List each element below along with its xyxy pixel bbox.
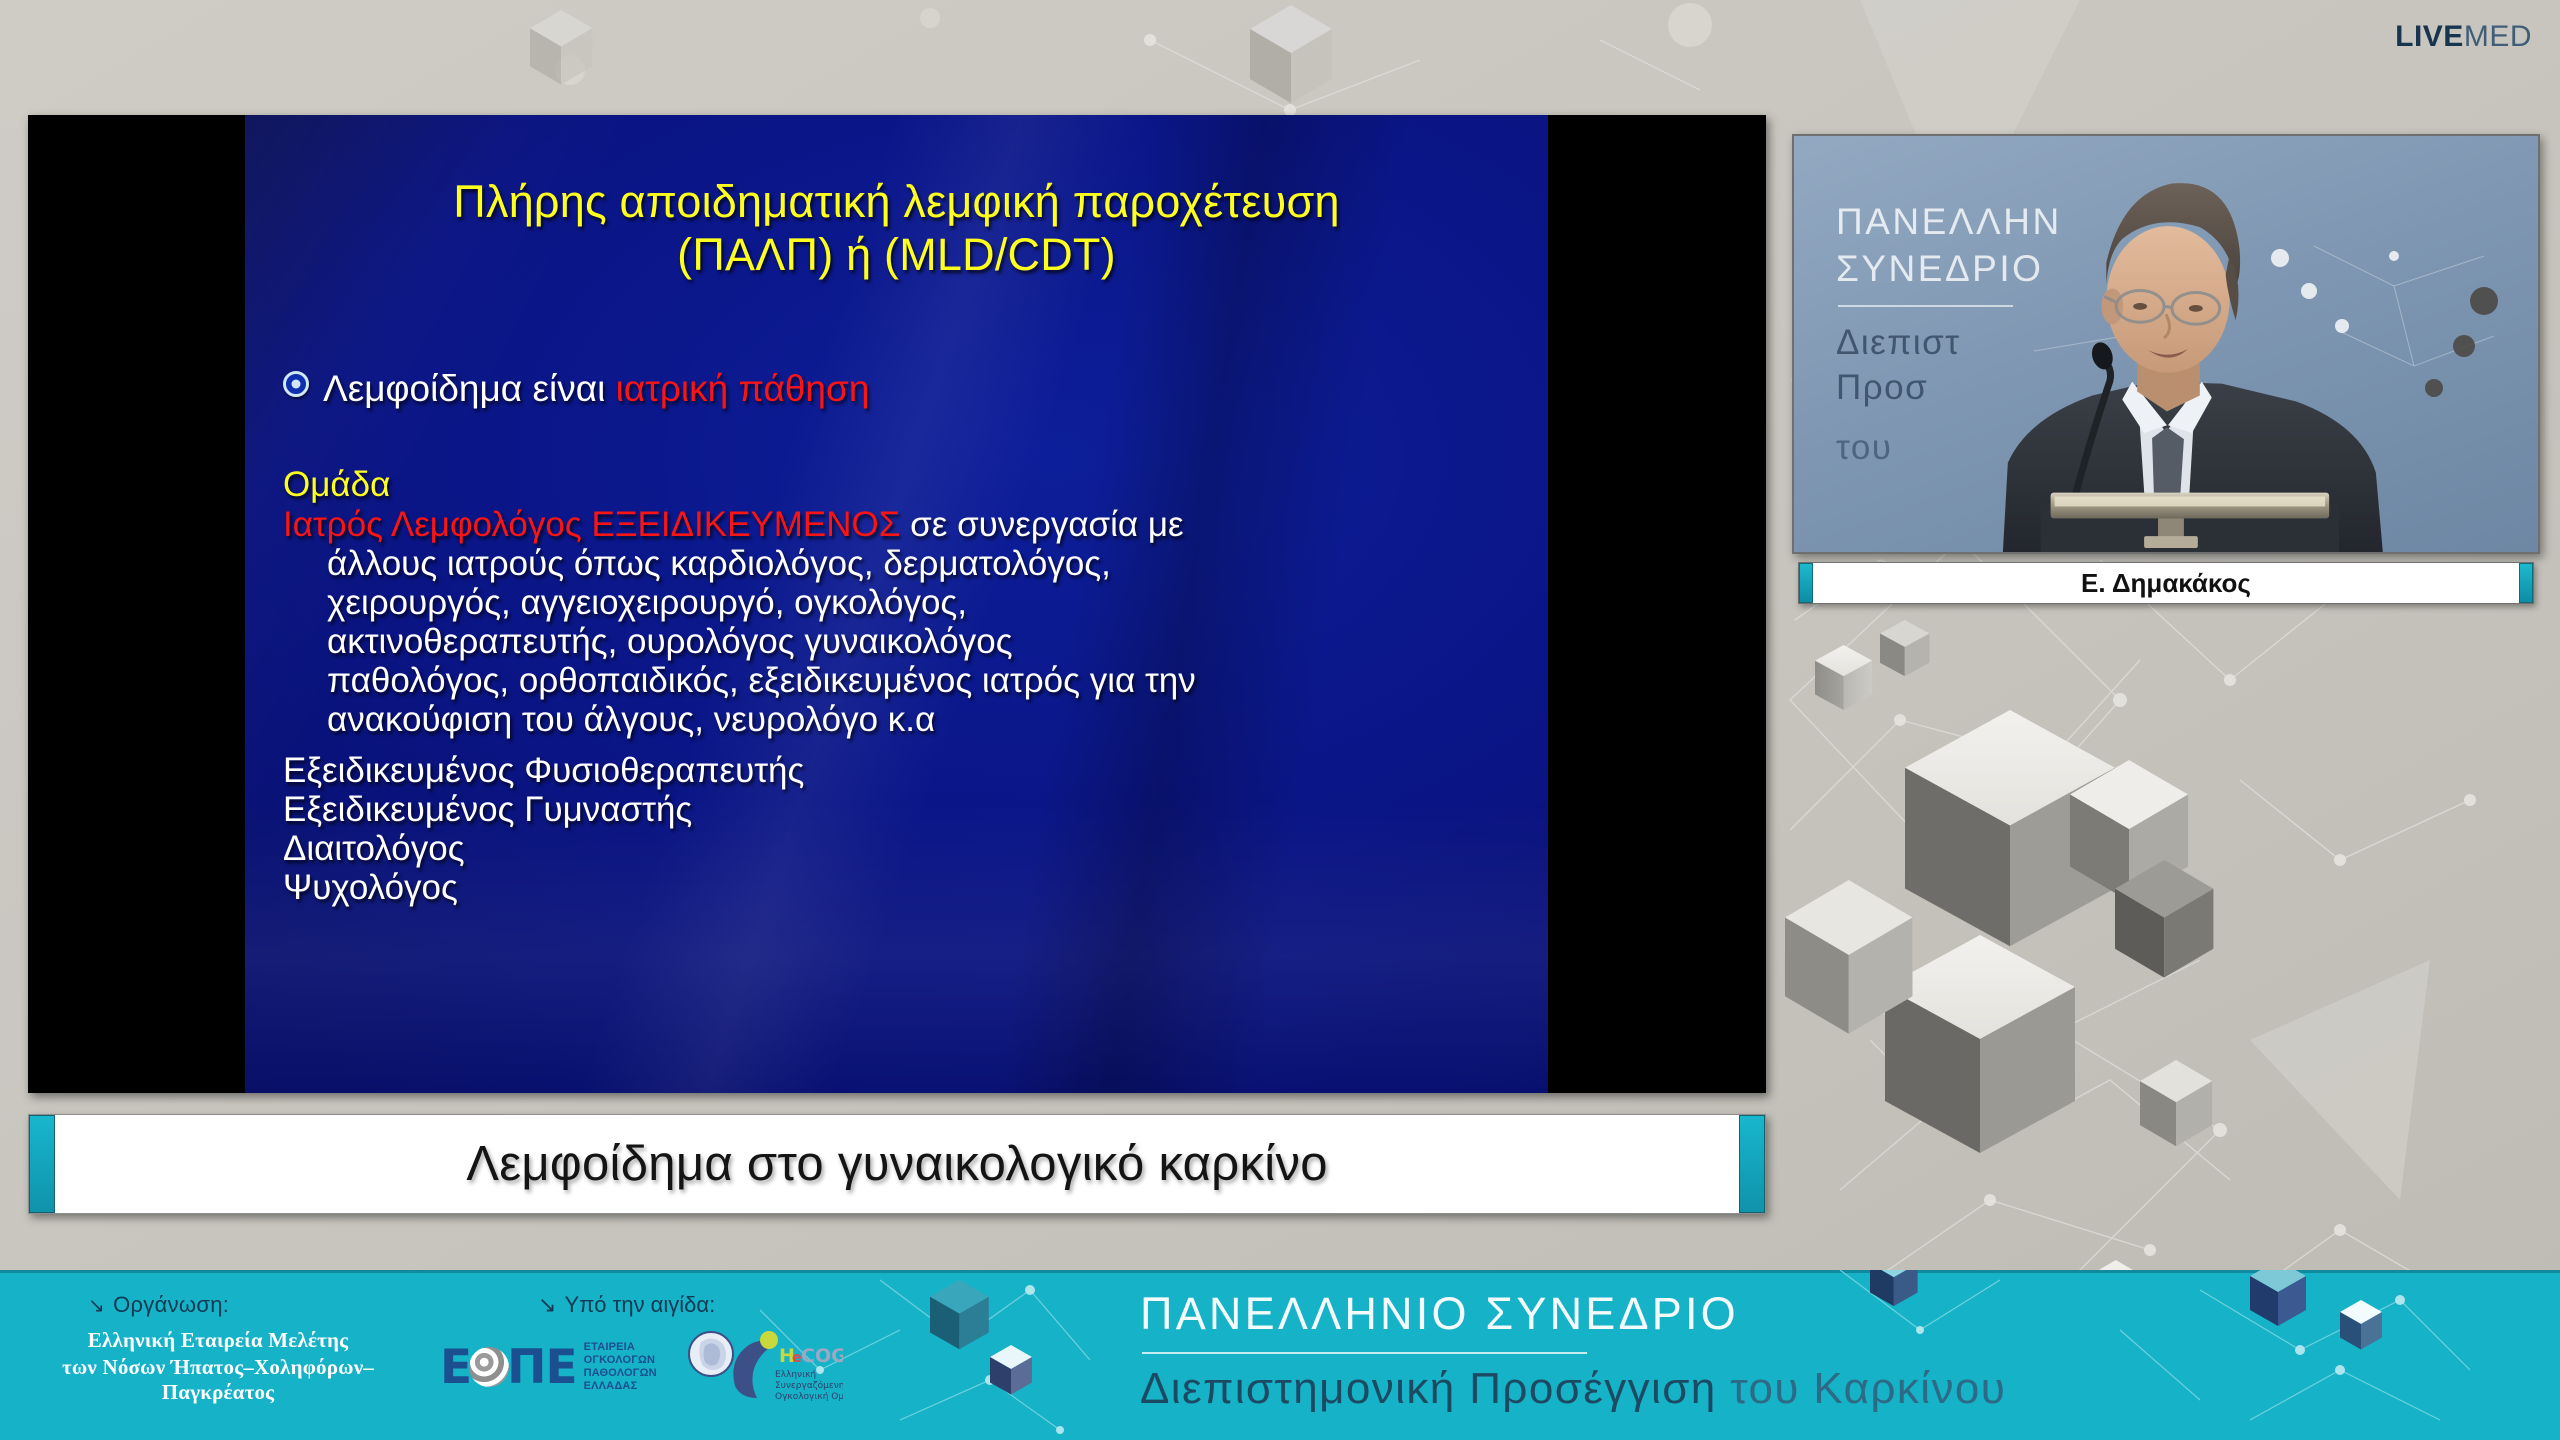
slide-title-line-2: (ΠΑΛΠ) ή (MLD/CDT) bbox=[279, 228, 1514, 281]
congress-title: ΠΑΝΕΛΛΗΝΙΟ ΣΥΝΕΔΡΙΟ bbox=[1140, 1288, 2006, 1340]
team-member-line: Εξειδικευμένος Φυσιοθεραπευτής bbox=[283, 752, 1518, 789]
organizer-block: ↘ Οργάνωση: Ελληνική Εταιρεία Μελέτης τω… bbox=[18, 1292, 418, 1405]
lead-role-suffix: σε συνεργασία με bbox=[910, 505, 1184, 544]
eope-subtitle-line: ΕΤΑΙΡΕΙΑ bbox=[584, 1341, 657, 1354]
logo-live-text: LIVE bbox=[2395, 20, 2464, 53]
lead-cont-line: χειρουργός, αγγειοχειρουργό, ογκολόγος, bbox=[283, 584, 1518, 621]
speaker-name-plate: Ε. Δημακάκος bbox=[1798, 562, 2534, 604]
bullet-dot-icon bbox=[283, 371, 309, 397]
lead-cont-line: ακτινοθεραπευτής, ουρολόγος γυναικολόγος bbox=[283, 623, 1518, 660]
team-member-line: Εξειδικευμένος Γυμναστής bbox=[283, 791, 1518, 828]
eope-letter-e: E bbox=[440, 1344, 471, 1391]
bullet-text: Λεμφοίδημα είναι ιατρική πάθηση bbox=[323, 369, 869, 408]
team-member-line: Ψυχολόγος bbox=[283, 869, 1518, 906]
screen: LIVEMED Πλήρης αποιδηματική λεμφική παρο… bbox=[0, 0, 2560, 1440]
slide-title-line-1: Πλήρης αποιδηματική λεμφική παροχέτευση bbox=[279, 175, 1514, 228]
caption-accent-left bbox=[29, 1115, 55, 1213]
congress-subtitle: Διεπιστημονική Προσέγγιση του Καρκίνου bbox=[1140, 1364, 2006, 1414]
congress-subtitle-main: Διεπιστημονική Προσέγγιση bbox=[1140, 1364, 1717, 1413]
eope-logo: E ΠΕ ΕΤΑΙΡΕΙΑ ΟΓΚΟΛΟΓΩΝ ΠΑΘΟΛΟΓΩΝ ΕΛΛΑΔΑ… bbox=[440, 1341, 657, 1393]
speaker-video[interactable]: ΠΑΝΕΛΛΗΝ ΣΥΝΕΔΡΙΟ Διεπιστ Προσ του bbox=[1792, 134, 2540, 554]
speaker-name-text: Ε. Δημακάκος bbox=[2081, 568, 2251, 599]
eope-subtitle-line: ΠΑΘΟΛΟΓΩΝ bbox=[584, 1367, 657, 1380]
svg-text:COG: COG bbox=[801, 1345, 843, 1367]
aegis-lead-text: Υπό την αιγίδα: bbox=[564, 1292, 715, 1318]
livemed-logo: LIVEMED bbox=[2395, 22, 2532, 52]
congress-subtitle-tail: του Καρκίνου bbox=[1730, 1364, 2006, 1413]
nameplate-accent-right bbox=[2519, 563, 2533, 603]
lead-cont-line: άλλους ιατρούς όπως καρδιολόγος, δερματο… bbox=[283, 545, 1518, 582]
presentation-title-bar: Λεμφοίδημα στο γυναικολογικό καρκίνο bbox=[28, 1114, 1766, 1214]
organizer-name-line-2: των Νόσων Ήπατος–Χοληφόρων–Παγκρέατος bbox=[18, 1355, 418, 1405]
caption-accent-right bbox=[1739, 1115, 1765, 1213]
lead-role-title: Ιατρός Λεμφολόγος bbox=[283, 505, 582, 544]
eope-letters-pe: ΠΕ bbox=[507, 1344, 576, 1391]
svg-text:Ογκολογική Ομάδα: Ογκολογική Ομάδα bbox=[775, 1392, 843, 1402]
organizer-lead-text: Οργάνωση: bbox=[113, 1292, 229, 1318]
aegis-block: ↘ Υπό την αιγίδα: bbox=[520, 1292, 860, 1318]
hecog-logo: H e COG Ελληνική Συνεργαζόμενη Ογκολογικ… bbox=[683, 1328, 843, 1406]
organizer-name-line-1: Ελληνική Εταιρεία Μελέτης bbox=[18, 1328, 418, 1353]
nameplate-accent-left bbox=[1799, 563, 1813, 603]
arrow-down-right-icon: ↘ bbox=[538, 1292, 556, 1318]
congress-rule bbox=[1142, 1352, 1587, 1354]
lead-cont-line: ανακούφιση του άλγους, νευρολόγο κ.α bbox=[283, 701, 1518, 738]
aegis-lead: ↘ Υπό την αιγίδα: bbox=[520, 1292, 860, 1318]
congress-branding: ΠΑΝΕΛΛΗΝΙΟ ΣΥΝΕΔΡΙΟ Διεπιστημονική Προσέ… bbox=[1140, 1288, 2006, 1414]
eope-wordmark: E ΠΕ bbox=[440, 1344, 577, 1391]
team-member-line: Διαιτολόγος bbox=[283, 830, 1518, 867]
lead-cont-line: παθολόγος, ορθοπαιδικός, εξειδικευμένος … bbox=[283, 662, 1518, 699]
bullet-text-plain: Λεμφοίδημα είναι bbox=[323, 368, 605, 409]
footer-banner: ↘ Οργάνωση: Ελληνική Εταιρεία Μελέτης τω… bbox=[0, 1270, 2560, 1440]
eope-spiral-icon bbox=[469, 1347, 509, 1387]
arrow-down-right-icon: ↘ bbox=[88, 1293, 105, 1318]
logo-med-text: MED bbox=[2464, 20, 2532, 53]
organizer-lead: ↘ Οργάνωση: bbox=[18, 1292, 418, 1318]
slide-viewer[interactable]: Πλήρης αποιδηματική λεμφική παροχέτευση … bbox=[28, 115, 1766, 1093]
presentation-title-text: Λεμφοίδημα στο γυναικολογικό καρκίνο bbox=[466, 1136, 1328, 1192]
group-label: Ομάδα bbox=[283, 466, 1518, 503]
slide-title: Πλήρης αποιδηματική λεμφική παροχέτευση … bbox=[279, 175, 1514, 281]
eope-subtitle: ΕΤΑΙΡΕΙΑ ΟΓΚΟΛΟΓΩΝ ΠΑΘΟΛΟΓΩΝ ΕΛΛΑΔΑΣ bbox=[584, 1341, 657, 1393]
eope-subtitle-line: ΕΛΛΑΔΑΣ bbox=[584, 1380, 657, 1393]
bullet-text-highlight: ιατρική πάθηση bbox=[616, 368, 870, 409]
slide-bullet-item: Λεμφοίδημα είναι ιατρική πάθηση bbox=[283, 369, 1518, 408]
speaker-figure bbox=[1794, 136, 2538, 552]
presentation-slide: Πλήρης αποιδηματική λεμφική παροχέτευση … bbox=[245, 115, 1548, 1093]
svg-text:Συνεργαζόμενη: Συνεργαζόμενη bbox=[775, 1380, 843, 1391]
svg-text:Ελληνική: Ελληνική bbox=[775, 1370, 816, 1380]
eope-subtitle-line: ΟΓΚΟΛΟΓΩΝ bbox=[584, 1354, 657, 1367]
slide-body: Λεμφοίδημα είναι ιατρική πάθηση Ομάδα Ια… bbox=[245, 369, 1548, 906]
lead-role-line: Ιατρός Λεμφολόγος ΕΞΕΙΔΙΚΕΥΜΕΝΟΣ σε συνε… bbox=[283, 506, 1518, 543]
lead-role-qualifier: ΕΞΕΙΔΙΚΕΥΜΕΝΟΣ bbox=[591, 505, 900, 544]
aegis-logos: E ΠΕ ΕΤΑΙΡΕΙΑ ΟΓΚΟΛΟΓΩΝ ΠΑΘΟΛΟΓΩΝ ΕΛΛΑΔΑ… bbox=[440, 1328, 843, 1406]
